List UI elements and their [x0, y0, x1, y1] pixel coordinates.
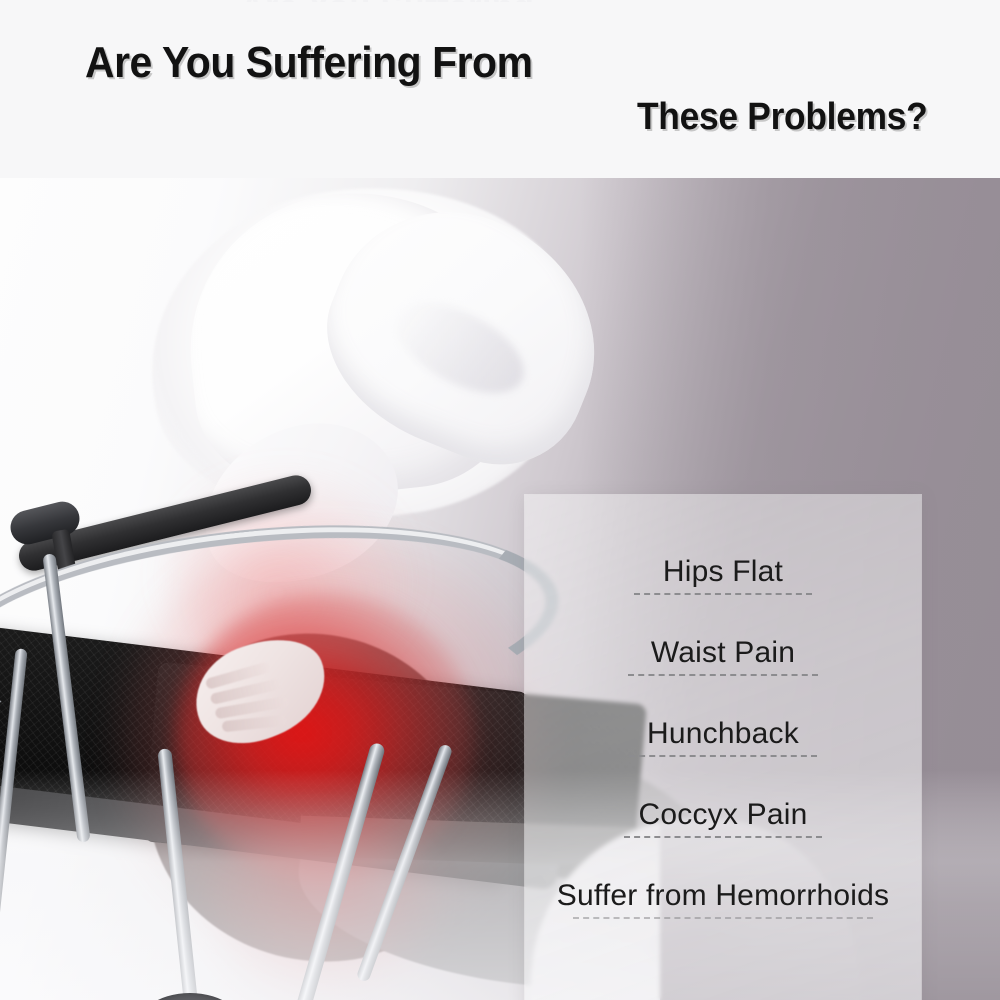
headline-line-2: These Problems? — [637, 96, 927, 139]
clipped-top-text: Are You Suffering — [240, 0, 640, 2]
headline-line-1: Are You Suffering From — [85, 38, 533, 88]
list-item: Hunchback — [525, 719, 921, 749]
list-item: Coccyx Pain — [525, 800, 921, 830]
list-item: Suffer from Hemorrhoids — [525, 881, 921, 911]
symptom-list: Hips Flat Waist Pain Hunchback Coccyx Pa… — [525, 495, 921, 1000]
list-item-label: Hips Flat — [649, 557, 797, 587]
list-item-label: Coccyx Pain — [625, 800, 822, 830]
symptom-list-panel: Hips Flat Waist Pain Hunchback Coccyx Pa… — [525, 495, 921, 1000]
list-item-label: Hunchback — [633, 719, 813, 749]
promo-poster: Hips Flat Waist Pain Hunchback Coccyx Pa… — [0, 0, 1000, 1000]
list-item-label: Waist Pain — [637, 638, 809, 668]
product-photo-scene: Hips Flat Waist Pain Hunchback Coccyx Pa… — [0, 178, 1000, 1000]
list-item-rule — [629, 755, 817, 757]
list-item-rule — [624, 836, 822, 838]
list-item-label: Suffer from Hemorrhoids — [543, 881, 904, 911]
list-item: Waist Pain — [525, 638, 921, 668]
list-item: Hips Flat — [525, 557, 921, 587]
list-item-rule — [634, 593, 812, 595]
poster-header: Are You Suffering Are You Suffering From… — [0, 0, 1000, 178]
list-item-rule — [573, 917, 873, 919]
list-item-rule — [628, 674, 818, 676]
